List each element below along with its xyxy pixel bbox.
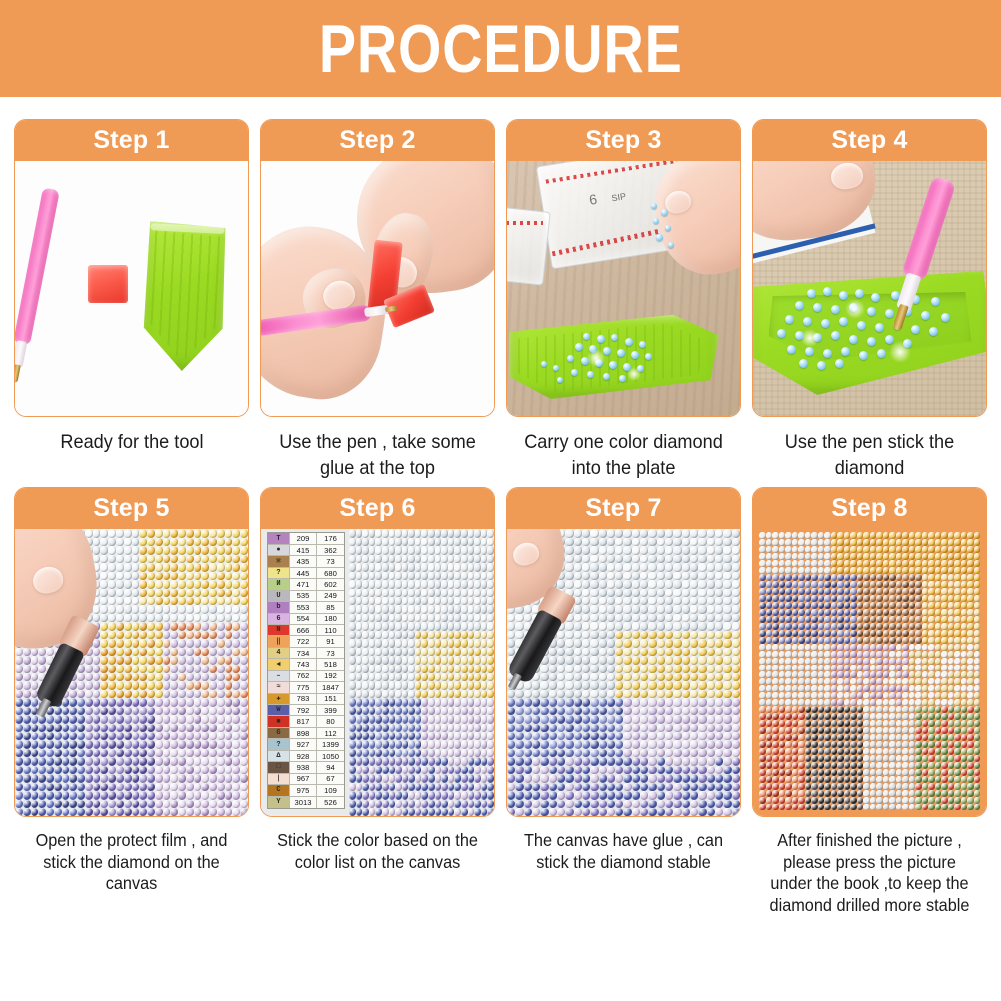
legend-code: 666 <box>290 625 317 635</box>
step-caption-1: Ready for the tool <box>60 430 203 456</box>
legend-symbol: ⌘ <box>268 556 290 566</box>
legend-code: 817 <box>290 716 317 726</box>
step-cell-1: Step 1 <box>14 119 249 481</box>
legend-code: 535 <box>290 591 317 601</box>
legend-code: 975 <box>290 785 317 795</box>
step-cell-7: Step 7 The canvas have glue , can stick … <box>506 487 741 915</box>
legend-symbol: ≈ <box>268 682 290 692</box>
glue-square-icon <box>88 265 128 303</box>
legend-symbol: ∆ <box>268 751 290 761</box>
legend-code: 553 <box>290 602 317 612</box>
legend-symbol: C <box>268 785 290 795</box>
legend-row: И471602 <box>268 579 344 590</box>
legend-code: 3013 <box>290 797 317 808</box>
legend-code: 898 <box>290 728 317 738</box>
step-image-6: T209176●415362⌘43573?445680И471602U53524… <box>261 529 494 816</box>
step-cell-4: Step 4 <box>752 119 987 481</box>
legend-count: 602 <box>317 579 344 589</box>
legend-symbol: ✚ <box>268 694 290 704</box>
legend-count: 67 <box>317 774 344 784</box>
legend-code: 435 <box>290 556 317 566</box>
step-card-7: Step 7 <box>506 487 741 817</box>
legend-symbol: 6 <box>268 614 290 624</box>
legend-row: ◄743518 <box>268 659 344 670</box>
step-image-1 <box>15 161 248 416</box>
tray-beads <box>527 331 697 391</box>
step-caption-5: Open the protect film , and stick the di… <box>22 830 241 894</box>
pink-pen-icon <box>15 187 60 387</box>
legend-count: 73 <box>317 556 344 566</box>
legend-symbol: W <box>268 705 290 715</box>
legend-row: Y3013526 <box>268 797 344 808</box>
step-caption-7: The canvas have glue , can stick the dia… <box>514 830 733 873</box>
step-image-7 <box>507 529 740 816</box>
step-card-5: Step 5 <box>14 487 249 817</box>
step-card-2: Step 2 <box>260 119 495 417</box>
legend-count: 94 <box>317 762 344 772</box>
step-cell-6: Step 6 T209176●415362⌘43573?445680И47160… <box>260 487 495 915</box>
page-banner: PROCEDURE <box>0 0 1001 97</box>
step-header-6: Step 6 <box>261 488 494 529</box>
legend-row: ‖72291 <box>268 636 344 647</box>
legend-row: G898112 <box>268 728 344 739</box>
legend-code: 927 <box>290 739 317 749</box>
legend-code: 554 <box>290 614 317 624</box>
legend-count: 110 <box>317 625 344 635</box>
legend-code: 967 <box>290 774 317 784</box>
legend-code: 775 <box>290 682 317 692</box>
legend-row: ∣96767 <box>268 774 344 785</box>
legend-code: 762 <box>290 671 317 681</box>
legend-row: W792399 <box>268 705 344 716</box>
legend-symbol: U <box>268 591 290 601</box>
legend-code: 743 <box>290 659 317 669</box>
legend-symbol: 4 <box>268 648 290 658</box>
legend-row: ?9271399 <box>268 739 344 750</box>
legend-row: 473473 <box>268 648 344 659</box>
legend-count: 1399 <box>317 739 344 749</box>
legend-code: 938 <box>290 762 317 772</box>
legend-code: 792 <box>290 705 317 715</box>
legend-count: 680 <box>317 568 344 578</box>
step-card-4: Step 4 <box>752 119 987 417</box>
mosaic-canvas-8 <box>759 532 980 810</box>
tray-beads <box>759 285 983 385</box>
color-legend-table: T209176●415362⌘43573?445680И471602U53524… <box>267 532 345 809</box>
legend-row: U535249 <box>268 591 344 602</box>
step-image-2 <box>261 161 494 416</box>
legend-symbol: ● <box>268 545 290 555</box>
legend-row: ✚783151 <box>268 694 344 705</box>
side-bag-icon <box>507 206 551 285</box>
legend-code: 734 <box>290 648 317 658</box>
legend-count: 518 <box>317 659 344 669</box>
legend-row: ●415362 <box>268 545 344 556</box>
legend-row: N666110 <box>268 625 344 636</box>
legend-count: 176 <box>317 533 344 543</box>
legend-code: 722 <box>290 636 317 646</box>
legend-count: 1050 <box>317 751 344 761</box>
legend-symbol: b <box>268 602 290 612</box>
legend-count: 526 <box>317 797 344 808</box>
step-header-2: Step 2 <box>261 120 494 161</box>
legend-count: 1847 <box>317 682 344 692</box>
legend-symbol: – <box>268 671 290 681</box>
step-image-8 <box>753 529 986 816</box>
legend-code: 928 <box>290 751 317 761</box>
step-header-8: Step 8 <box>753 488 986 529</box>
step-card-3: Step 3 6 SIP <box>506 119 741 417</box>
step-caption-8: After finished the picture , please pres… <box>760 830 979 915</box>
legend-row: ⌘43573 <box>268 556 344 567</box>
legend-count: 151 <box>317 694 344 704</box>
step-caption-6: Stick the color based on the color list … <box>268 830 487 873</box>
legend-count: 80 <box>317 716 344 726</box>
page-title: PROCEDURE <box>319 15 683 83</box>
legend-symbol: ◄ <box>268 659 290 669</box>
legend-row: ≈7751847 <box>268 682 344 693</box>
mosaic-canvas-6 <box>349 529 494 816</box>
legend-symbol: Y <box>268 797 290 808</box>
step-header-5: Step 5 <box>15 488 248 529</box>
legend-count: 91 <box>317 636 344 646</box>
step-header-1: Step 1 <box>15 120 248 161</box>
legend-code: 445 <box>290 568 317 578</box>
legend-count: 249 <box>317 591 344 601</box>
legend-code: 415 <box>290 545 317 555</box>
step-card-6: Step 6 T209176●415362⌘43573?445680И47160… <box>260 487 495 817</box>
step-header-7: Step 7 <box>507 488 740 529</box>
green-tray-icon <box>139 221 229 373</box>
legend-code: 209 <box>290 533 317 543</box>
legend-count: 112 <box>317 728 344 738</box>
step-cell-2: Step 2 <box>260 119 495 481</box>
legend-symbol: ■ <box>268 716 290 726</box>
legend-symbol: ? <box>268 568 290 578</box>
step-caption-2: Use the pen , take some glue at the top <box>268 430 487 481</box>
legend-row: 6554180 <box>268 614 344 625</box>
legend-symbol: N <box>268 625 290 635</box>
step-header-3: Step 3 <box>507 120 740 161</box>
legend-count: 109 <box>317 785 344 795</box>
step-cell-8: Step 8 After finished the picture , plea… <box>752 487 987 915</box>
step-card-1: Step 1 <box>14 119 249 417</box>
legend-symbol: T <box>268 533 290 543</box>
legend-row: ■81780 <box>268 716 344 727</box>
bag-label-text: SIP <box>611 191 627 203</box>
legend-count: 73 <box>317 648 344 658</box>
legend-symbol: И <box>268 579 290 589</box>
step-image-5 <box>15 529 248 816</box>
legend-symbol: G <box>268 728 290 738</box>
step-header-4: Step 4 <box>753 120 986 161</box>
step-cell-3: Step 3 6 SIP <box>506 119 741 481</box>
legend-row: –762192 <box>268 671 344 682</box>
legend-count: 192 <box>317 671 344 681</box>
steps-grid: Step 1 <box>0 97 1001 916</box>
legend-symbol: ∣ <box>268 774 290 784</box>
legend-count: 399 <box>317 705 344 715</box>
legend-symbol: □ <box>268 762 290 772</box>
legend-symbol: ‖ <box>268 636 290 646</box>
legend-row: b55385 <box>268 602 344 613</box>
legend-symbol: ? <box>268 739 290 749</box>
step-image-3: 6 SIP <box>507 161 740 416</box>
legend-row: C975109 <box>268 785 344 796</box>
legend-code: 783 <box>290 694 317 704</box>
legend-row: ∆9281050 <box>268 751 344 762</box>
legend-row: □93894 <box>268 762 344 773</box>
step-cell-5: Step 5 Open the protect film , and stick… <box>14 487 249 915</box>
side-bag-print-icon <box>507 221 543 225</box>
legend-count: 85 <box>317 602 344 612</box>
step-card-8: Step 8 <box>752 487 987 817</box>
legend-count: 180 <box>317 614 344 624</box>
bead-stream <box>647 201 687 257</box>
legend-row: T209176 <box>268 533 344 544</box>
legend-code: 471 <box>290 579 317 589</box>
bag-label-number: 6 <box>588 191 598 208</box>
step-caption-3: Carry one color diamond into the plate <box>514 430 733 481</box>
legend-count: 362 <box>317 545 344 555</box>
step-caption-4: Use the pen stick the diamond <box>760 430 979 481</box>
step-image-4 <box>753 161 986 416</box>
legend-row: ?445680 <box>268 568 344 579</box>
